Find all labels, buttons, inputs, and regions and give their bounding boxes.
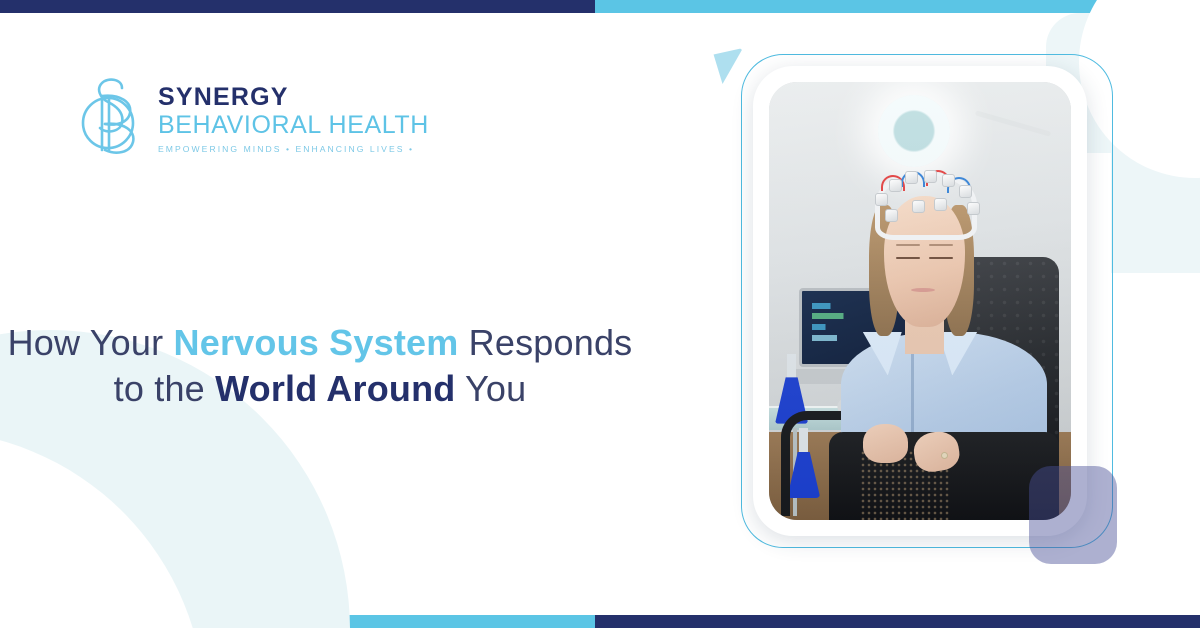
- page-title: How Your Nervous System Responds to the …: [0, 320, 640, 412]
- brand-logo[interactable]: SYNERGY BEHAVIORAL HEALTH EMPOWERING MIN…: [78, 74, 429, 164]
- logo-tagline: EMPOWERING MINDS • ENHANCING LIVES •: [158, 144, 429, 154]
- logo-text-block: SYNERGY BEHAVIORAL HEALTH EMPOWERING MIN…: [158, 84, 429, 154]
- eeg-electrode: [942, 174, 955, 187]
- headline-text-1: How Your: [8, 322, 174, 363]
- banner-canvas: SYNERGY BEHAVIORAL HEALTH EMPOWERING MIN…: [0, 0, 1200, 628]
- sb-monogram-icon: [78, 74, 144, 164]
- eeg-cap: [875, 170, 978, 240]
- eyebrow-right: [929, 244, 953, 246]
- headline-text-2: Responds: [458, 322, 632, 363]
- lips: [911, 288, 935, 292]
- headline-line-2: to the World Around You: [114, 368, 527, 409]
- bottom-bar-navy: [595, 615, 1200, 628]
- eeg-electrode: [875, 193, 888, 206]
- eeg-electrode: [959, 185, 972, 198]
- eeg-electrode: [889, 179, 902, 192]
- headline-highlight-world-around: World Around: [215, 368, 455, 409]
- headline-text-3: to the: [114, 368, 215, 409]
- closed-eye-right: [929, 257, 953, 259]
- headline-highlight-nervous-system: Nervous System: [174, 322, 459, 363]
- closed-eye-left: [896, 257, 920, 259]
- lab-photo: [769, 82, 1071, 520]
- ring-light-icon: [878, 95, 950, 167]
- eeg-electrode: [924, 170, 937, 183]
- logo-name-primary: SYNERGY: [158, 84, 429, 111]
- eeg-electrode: [912, 200, 925, 213]
- photo-card: [753, 66, 1087, 536]
- headline-line-1: How Your Nervous System Responds: [8, 322, 633, 363]
- hand-left: [863, 424, 908, 463]
- top-bar-navy: [0, 0, 595, 13]
- headline-text-4: You: [455, 368, 526, 409]
- slate-square-accent: [1029, 466, 1117, 564]
- eeg-electrode: [934, 198, 947, 211]
- eeg-electrode: [967, 202, 980, 215]
- blue-wedge-accent: [711, 48, 743, 84]
- finger-ring: [941, 452, 948, 459]
- logo-name-secondary: BEHAVIORAL HEALTH: [158, 111, 429, 139]
- eeg-electrode: [885, 209, 898, 222]
- eyebrow-left: [896, 244, 920, 246]
- eeg-electrode: [905, 171, 918, 184]
